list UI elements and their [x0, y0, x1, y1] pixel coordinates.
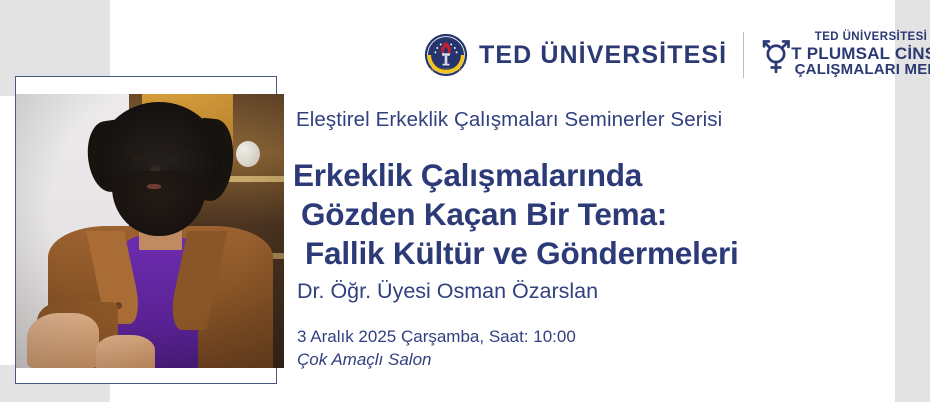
event-venue: Çok Amaçlı Salon: [297, 350, 431, 370]
header-logo-row: TED ÜNİVERSİTESİ TED ÜNİVERSİTESİ: [424, 26, 930, 84]
svg-text:TED ÜNİVERSİTESİ: TED ÜNİVERSİTESİ: [430, 67, 462, 72]
headline-line-2: Gözden Kaçan Bir Tema:: [301, 195, 739, 234]
ted-university-seal-icon: TED ÜNİVERSİTESİ: [424, 33, 468, 77]
seminar-headline: Erkeklik Çalışmalarında Gözden Kaçan Bir…: [293, 156, 739, 273]
seminar-poster: TED ÜNİVERSİTESİ TED ÜNİVERSİTESİ: [0, 0, 930, 402]
logo-divider: [743, 32, 744, 78]
event-datetime: 3 Aralık 2025 Çarşamba, Saat: 10:00: [297, 327, 576, 347]
ted-university-wordmark: TED ÜNİVERSİTESİ: [479, 43, 727, 68]
speaker-photo: [16, 94, 284, 368]
speaker-photo-frame: [15, 76, 277, 384]
speaker-name: Dr. Öğr. Üyesi Osman Özarslan: [297, 279, 598, 304]
gender-studies-center-logo: TED ÜNİVERSİTESİ T PLUMSAL CİNSİYET ÇALI…: [759, 32, 930, 77]
ted-university-logo: TED ÜNİVERSİTESİ TED ÜNİVERSİTESİ: [424, 33, 727, 77]
headline-line-3: Fallik Kültür ve Göndermeleri: [305, 234, 739, 273]
series-title: Eleştirel Erkeklik Çalışmaları Seminerle…: [296, 108, 722, 132]
center-line-1: TED ÜNİVERSİTESİ: [815, 32, 927, 44]
combined-gender-symbol-icon: [759, 36, 793, 74]
headline-line-1: Erkeklik Çalışmalarında: [293, 156, 739, 195]
